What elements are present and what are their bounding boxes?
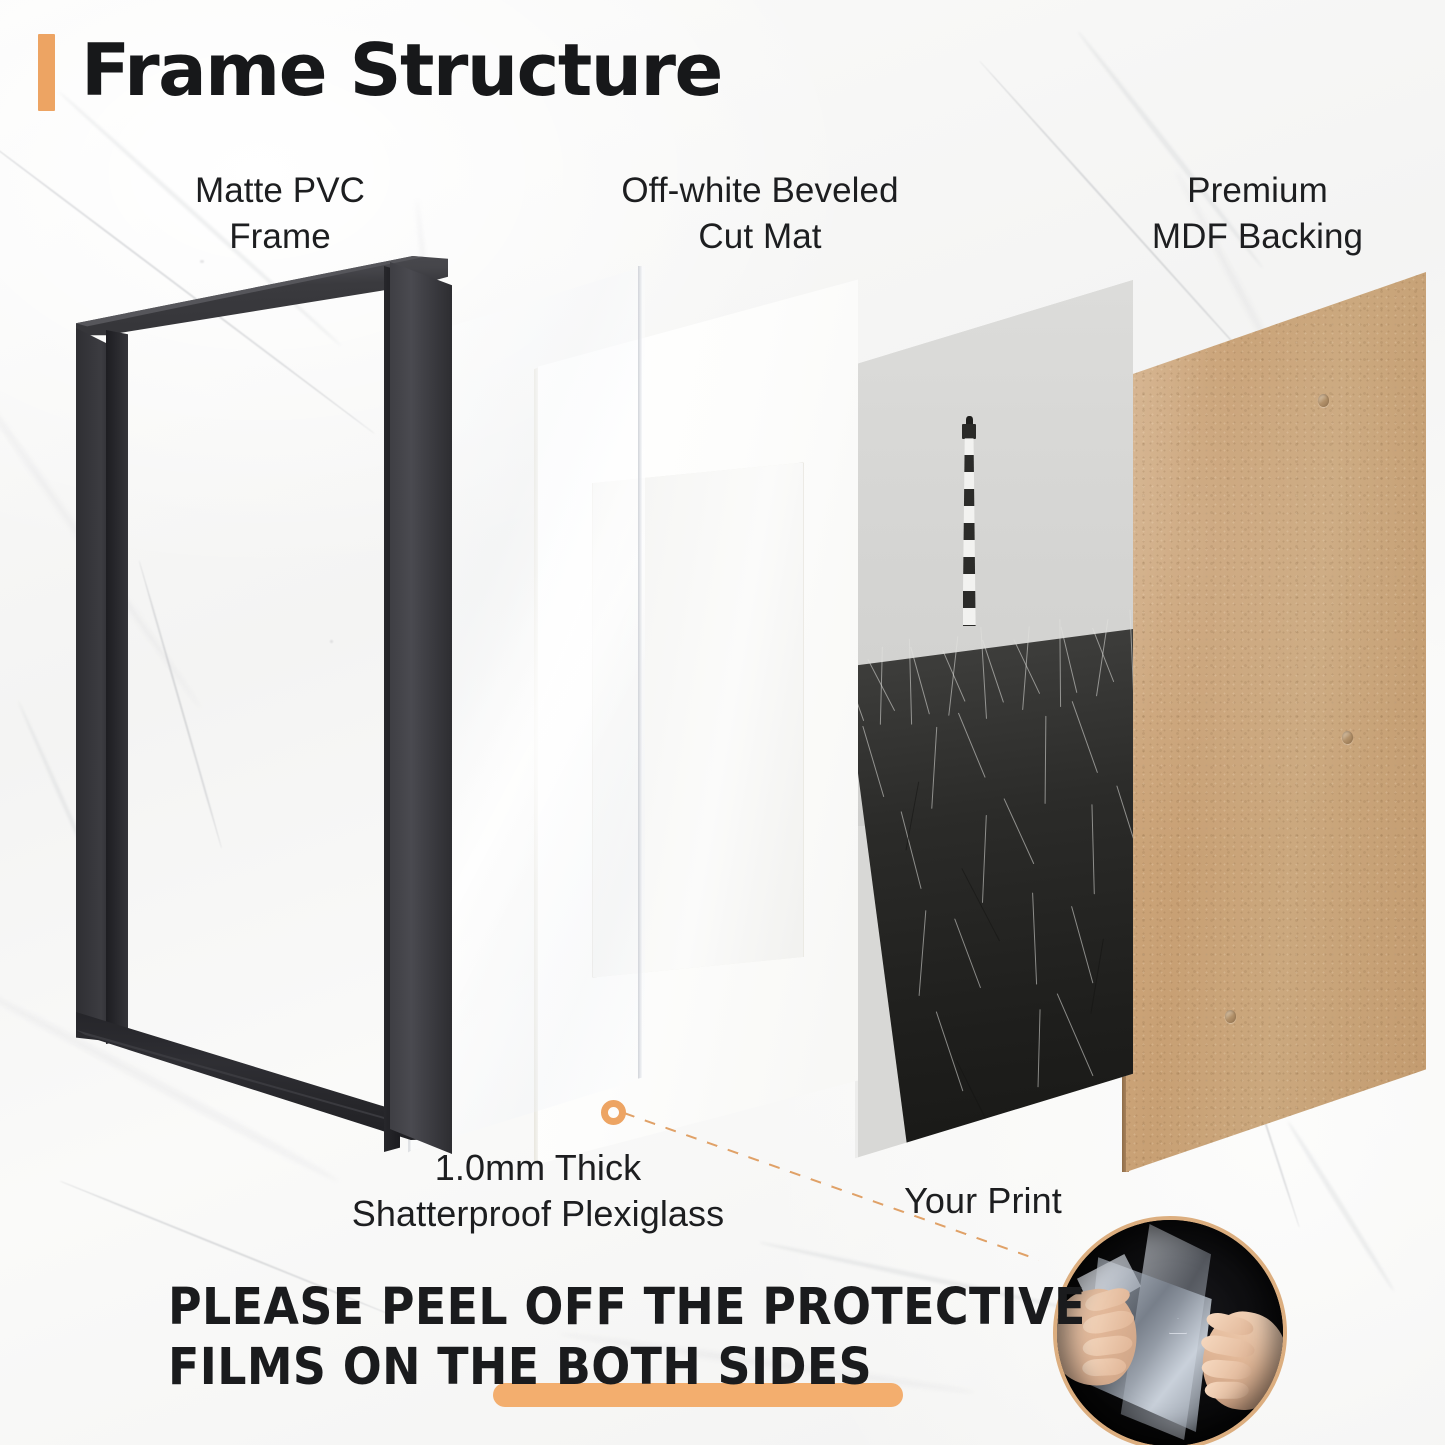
mdf-staple-mark bbox=[1225, 1010, 1236, 1023]
mdf-fiber-texture bbox=[1126, 272, 1426, 1172]
label-matte-pvc-frame: Matte PVC Frame bbox=[110, 168, 450, 259]
label-plexiglass: 1.0mm Thick Shatterproof Plexiglass bbox=[238, 1145, 838, 1236]
inset-vignette bbox=[1057, 1220, 1283, 1445]
frame-left-inner-lip bbox=[106, 330, 128, 1044]
lighthouse-icon bbox=[961, 416, 978, 626]
infographic-canvas: Frame Structure bbox=[0, 0, 1445, 1445]
warning-line-1: PLEASE PEEL OFF THE PROTECTIVE bbox=[168, 1278, 1038, 1338]
print-dune-grass bbox=[855, 627, 1133, 1160]
peel-film-inset-photo bbox=[1053, 1216, 1287, 1445]
layer-print bbox=[855, 280, 1133, 1160]
warning-block: PLEASE PEEL OFF THE PROTECTIVE FILMS ON … bbox=[168, 1278, 1038, 1397]
mdf-staple-mark bbox=[1318, 394, 1329, 407]
mdf-staple-mark bbox=[1342, 731, 1353, 744]
plexiglass-right-edge bbox=[638, 266, 642, 1156]
layer-pvc-frame bbox=[60, 250, 460, 1160]
warning-line-2: FILMS ON THE BOTH SIDES bbox=[168, 1338, 1038, 1398]
label-your-print: Your Print bbox=[838, 1178, 1128, 1225]
label-mdf-backing: Premium MDF Backing bbox=[1070, 168, 1445, 259]
frame-right-rail bbox=[390, 262, 452, 1154]
label-cut-mat: Off-white Beveled Cut Mat bbox=[545, 168, 975, 259]
layer-mdf-backing bbox=[1126, 272, 1426, 1172]
connector-ring-marker bbox=[601, 1100, 626, 1125]
